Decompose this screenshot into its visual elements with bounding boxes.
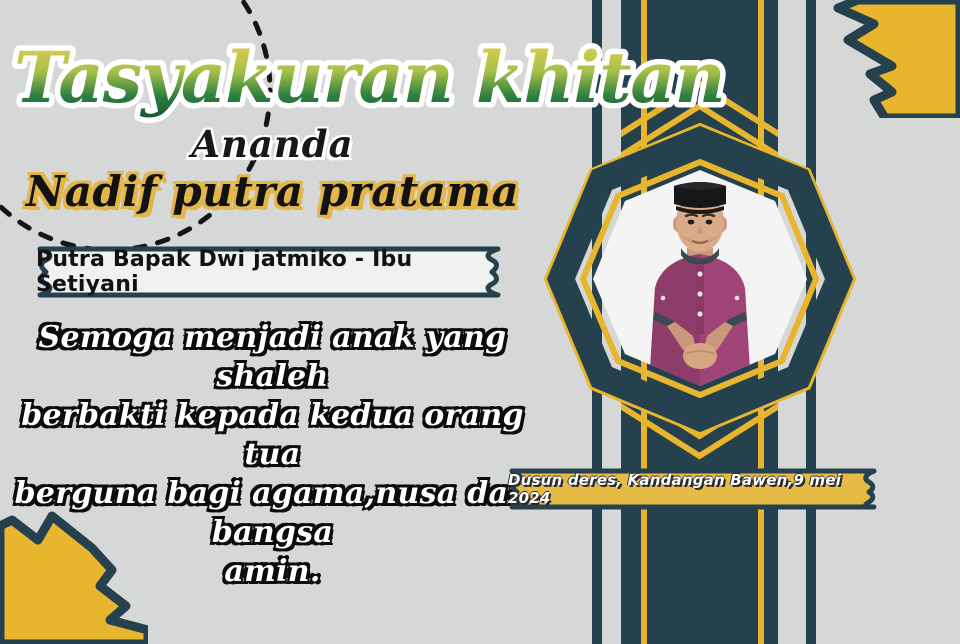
invitation-banner: Tasyakuran khitan Tasyakuran khitan Anan… bbox=[0, 0, 960, 644]
prayer-line: Semoga menjadi anak yang shaleh bbox=[0, 318, 545, 396]
page-title: Tasyakuran khitan Tasyakuran khitan bbox=[8, 28, 568, 126]
ananda-label: Ananda bbox=[0, 122, 545, 166]
prayer-line: berguna bagi agama,nusa dan bangsa bbox=[0, 474, 545, 552]
location-banner: Dusun deres, Kandangan Bawen,9 mei 2024 bbox=[508, 468, 878, 510]
child-name: Nadif putra pratama bbox=[0, 167, 545, 216]
prayer-line: amin. bbox=[0, 552, 545, 591]
octagon-photo-frame-icon bbox=[543, 122, 857, 436]
parents-line: Putra Bapak Dwi jatmiko - Ibu Setiyani bbox=[36, 246, 502, 298]
location-line: Dusun deres, Kandangan Bawen,9 mei 2024 bbox=[508, 468, 878, 510]
gold-corner-ornament-icon bbox=[830, 0, 960, 118]
parents-banner: Putra Bapak Dwi jatmiko - Ibu Setiyani bbox=[36, 246, 502, 298]
prayer-line: berbakti kepada kedua orang tua bbox=[0, 396, 545, 474]
svg-text:Tasyakuran khitan: Tasyakuran khitan bbox=[14, 36, 725, 119]
prayer-block: Semoga menjadi anak yang shaleh berbakti… bbox=[0, 318, 545, 591]
